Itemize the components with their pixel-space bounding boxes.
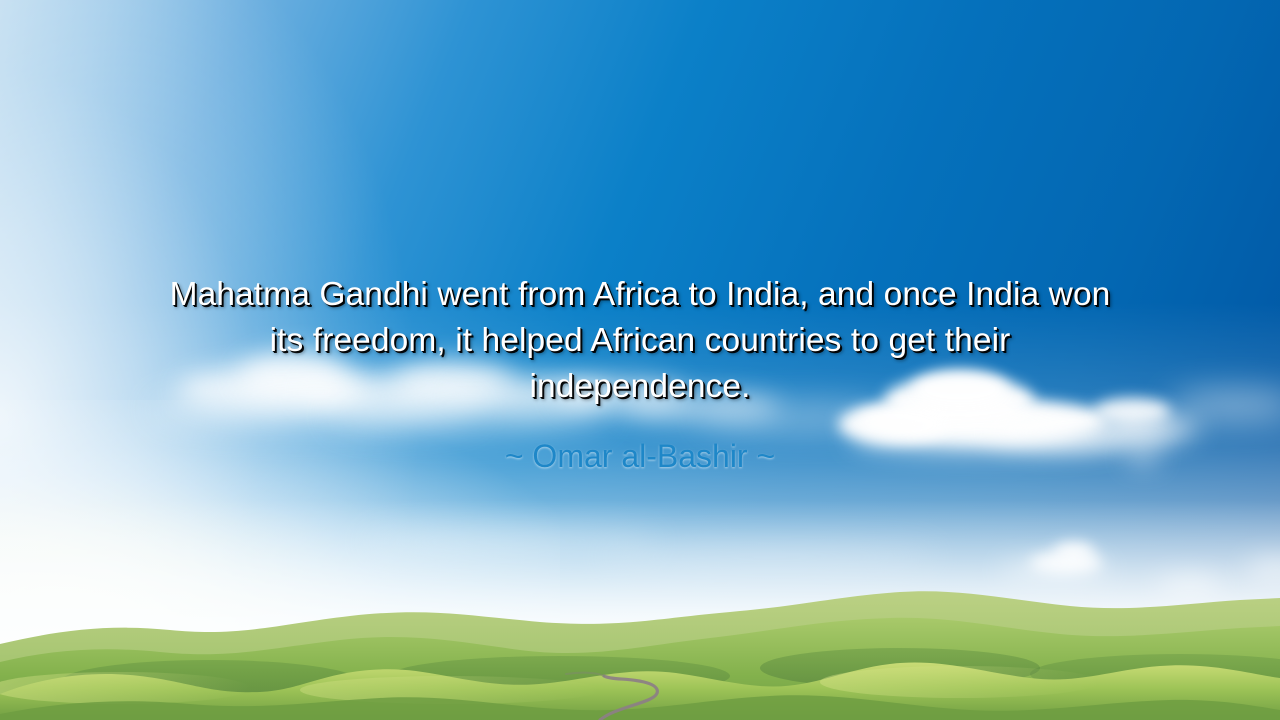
hill-highlight: [0, 672, 250, 704]
quote-author: ~ Omar al-Bashir ~: [40, 410, 1240, 476]
rolling-hills-landscape: [0, 590, 1280, 720]
quote-line-2: its freedom, it helped African countries…: [40, 318, 1240, 364]
quote-overlay: Mahatma Gandhi went from Africa to India…: [0, 272, 1280, 476]
quote-image-canvas: Mahatma Gandhi went from Africa to India…: [0, 0, 1280, 720]
hill-highlight: [820, 666, 1100, 698]
quote-line-3: independence.: [40, 364, 1240, 410]
quote-line-1: Mahatma Gandhi went from Africa to India…: [40, 272, 1240, 318]
